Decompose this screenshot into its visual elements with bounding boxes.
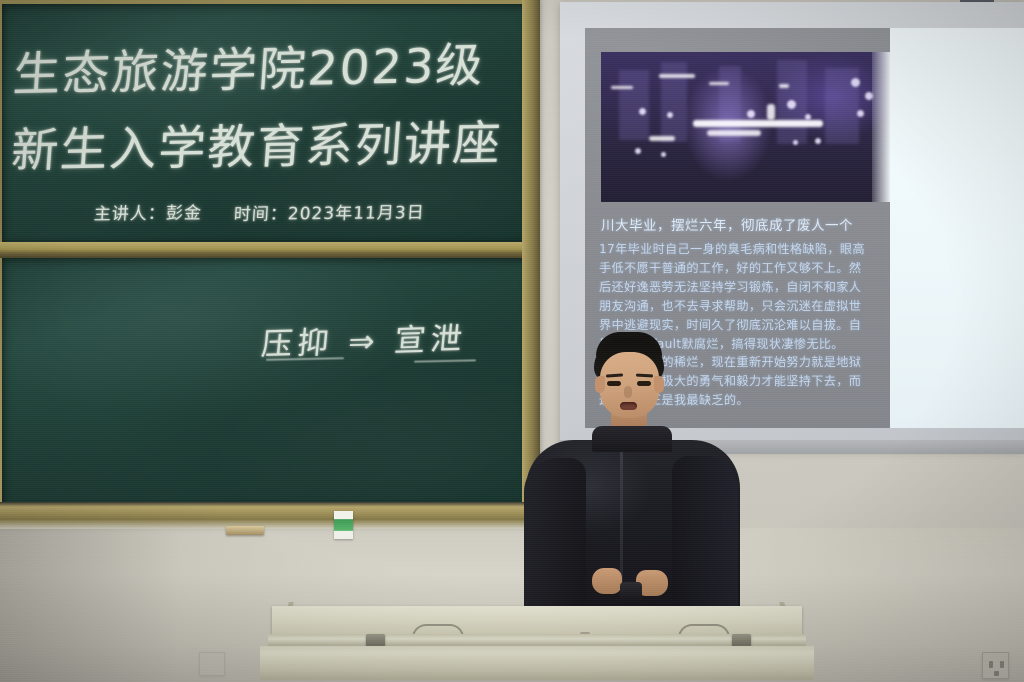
chalk-speaker-label: 主讲人：彭金 [93, 198, 203, 224]
presenter-left-eye [607, 381, 621, 386]
presenter-mouth [620, 402, 637, 410]
chalk-title-line-2: 新生入学教育系列讲座 [9, 104, 505, 181]
chalkboard-lower-panel [2, 258, 530, 508]
presenter-right-eye [637, 381, 651, 386]
presenter-person [496, 330, 746, 630]
slide-body-line: 朋友沟通，也不去寻求帮助，只会沉迷在虚拟世 [599, 297, 889, 316]
chalk-tray-lip [0, 520, 540, 529]
board-eraser[interactable] [226, 526, 264, 535]
presenter-left-ear [595, 376, 605, 393]
chalkboard: 生态旅游学院2023级 新生入学教育系列讲座 主讲人：彭金 时间：2023年11… [0, 0, 540, 524]
slide-body-line: 17年毕业时自己一身的臭毛病和性格缺陷，眼高 [599, 240, 889, 259]
slide-night-city-photo [601, 52, 890, 202]
presenter-nose [624, 386, 632, 398]
wall-shadow [0, 528, 180, 682]
slide-headline: 川大毕业，摆烂六年，彻底成了废人一个 [601, 216, 883, 236]
lectern-rail [268, 634, 806, 646]
slide-body-line: 后还好逸恶劳无法坚持学习锻炼，自闭不和家人 [599, 278, 889, 297]
chalk-box[interactable] [334, 511, 353, 539]
photo-right-glare [872, 52, 890, 202]
presenter-left-hand [592, 568, 622, 594]
wall-outlet-left[interactable] [199, 652, 225, 676]
presenter-collar [592, 426, 672, 452]
chalk-datetime-label: 时间：2023年11月3日 [233, 198, 425, 225]
classroom-scene: 生态旅游学院2023级 新生入学教育系列讲座 主讲人：彭金 时间：2023年11… [0, 0, 1024, 682]
chalk-keyword: 压抑 ⇒ 宣泄 [260, 313, 470, 364]
chalkboard-divider [0, 242, 534, 258]
slide-body-line: 手低不愿干普通的工作，好的工作又够不上。然 [599, 259, 889, 278]
lectern-front-panel [260, 646, 814, 680]
chalk-title-line-1: 生态旅游学院2023级 [11, 26, 487, 105]
wall-outlet-right[interactable] [982, 652, 1009, 679]
slide-glare-area [890, 28, 1024, 428]
lectern-top-surface [272, 606, 802, 636]
presenter-right-ear [654, 376, 664, 393]
lectern [254, 598, 820, 682]
